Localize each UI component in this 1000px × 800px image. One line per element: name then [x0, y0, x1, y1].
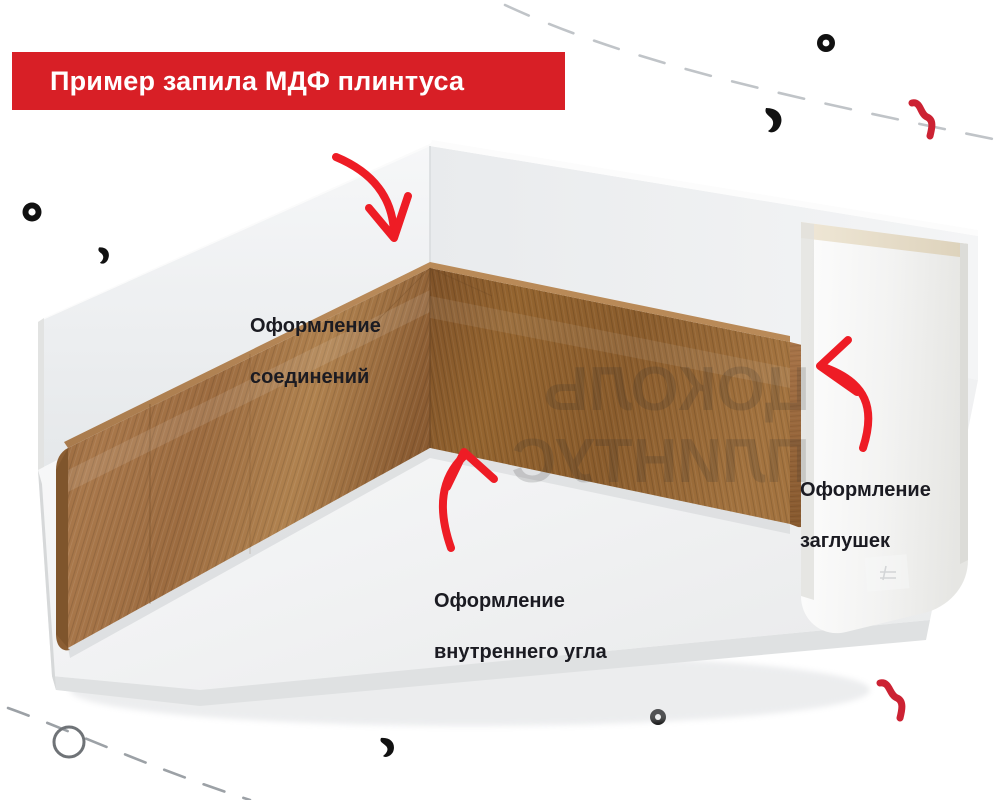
squiggle-bottom-right: [880, 683, 902, 718]
ring-top-right: [817, 34, 835, 52]
title-banner-label: Пример запила МДФ плинтуса: [50, 66, 464, 97]
poster-canvas: ЦОКОЛЬ ПЛИНТУС Пример запила МДФ плинтус…: [0, 0, 1000, 800]
callout-endcaps-line2: заглушек: [800, 529, 931, 555]
squiggle-top-right: [912, 103, 932, 136]
ring-left: [23, 203, 42, 222]
callout-label-inner-corner: Оформление внутреннего угла: [434, 563, 607, 691]
watermark-line-1: ЦОКОЛЬ: [544, 355, 810, 424]
callout-label-endcaps: Оформление заглушек: [800, 452, 931, 580]
dashed-curve-top: [505, 5, 998, 140]
callout-inner-corner-line2: внутреннего угла: [434, 640, 607, 666]
callout-label-joints: Оформление соединений: [250, 288, 381, 416]
comma-bottom: [380, 738, 394, 757]
title-banner: Пример запила МДФ плинтуса: [12, 52, 565, 110]
plinth-left-end-shadow: [56, 448, 68, 648]
wall-back-left-side-edge: [38, 318, 44, 470]
end-cap-right-edge: [960, 243, 968, 564]
comma-left: [98, 247, 108, 263]
open-circle-bottom-left: [54, 727, 84, 757]
comma-top-right: [765, 108, 781, 132]
callout-endcaps-line1: Оформление: [800, 478, 931, 504]
callout-joints-line1: Оформление: [250, 314, 381, 340]
dashed-curve-bottom: [8, 708, 250, 800]
callout-joints-line2: соединений: [250, 365, 381, 391]
callout-inner-corner-line1: Оформление: [434, 589, 607, 615]
watermark-line-2: ПЛИНТУС: [511, 427, 810, 496]
